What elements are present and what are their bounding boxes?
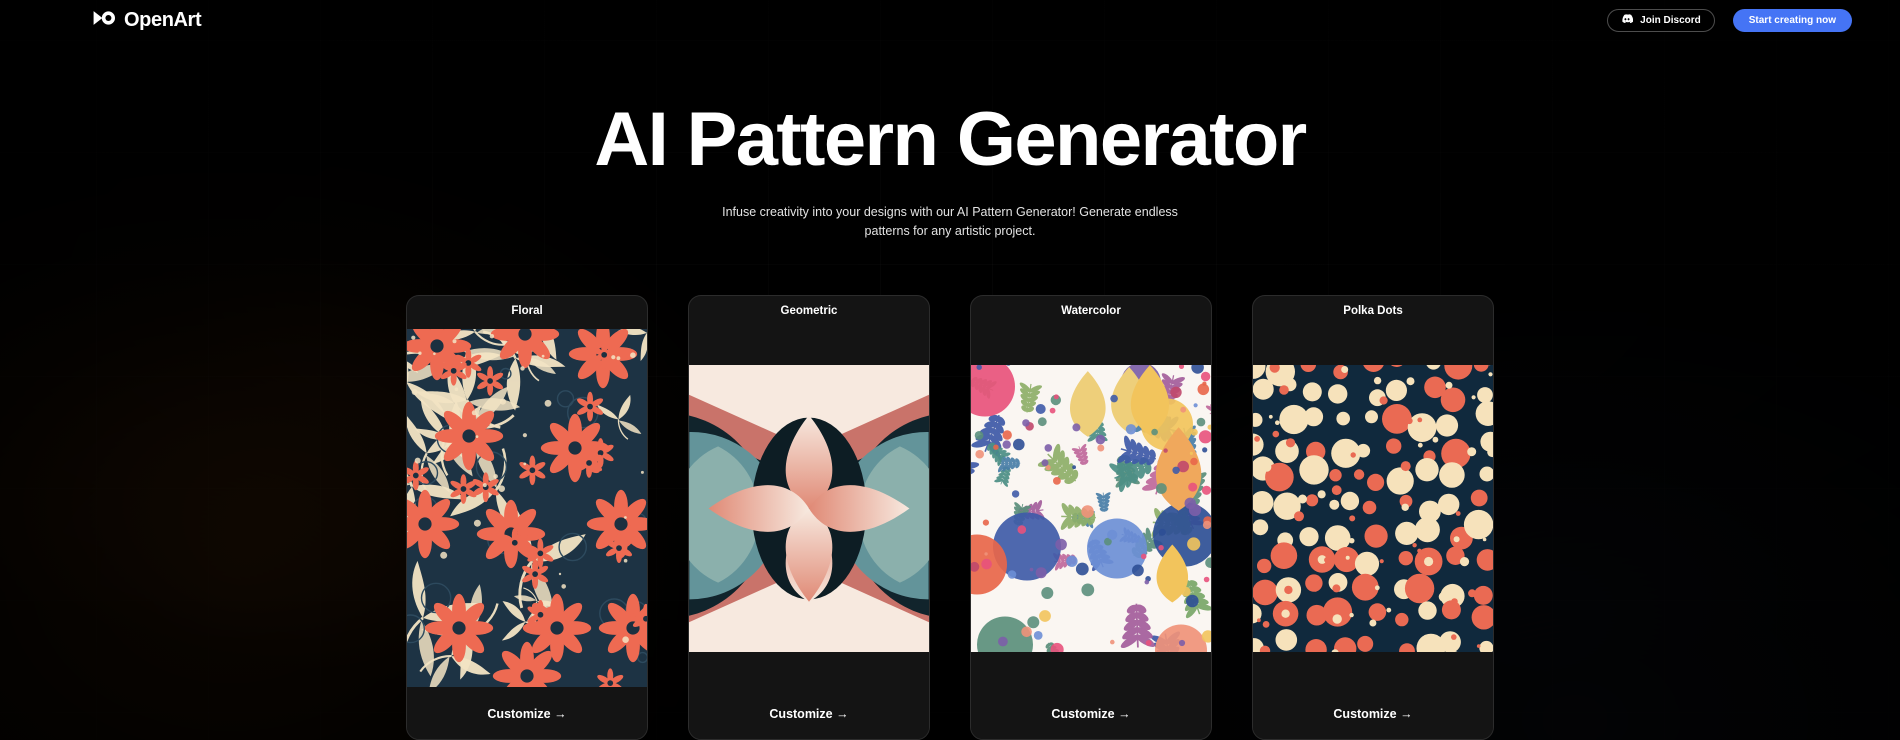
customize-button[interactable]: Customize → bbox=[407, 689, 647, 739]
pattern-card-title: Geometric bbox=[689, 296, 929, 326]
pattern-preview-image bbox=[971, 365, 1211, 652]
openart-logo-text: OpenArt bbox=[124, 10, 201, 30]
discord-icon bbox=[1621, 14, 1633, 26]
pattern-card-polkadots[interactable]: Polka DotsCustomize → bbox=[1252, 295, 1494, 740]
openart-logo[interactable]: OpenArt bbox=[92, 10, 201, 31]
page-title: AI Pattern Generator bbox=[0, 100, 1900, 181]
customize-button[interactable]: Customize → bbox=[1253, 689, 1493, 739]
openart-logo-icon bbox=[92, 10, 117, 31]
pattern-card-floral[interactable]: FloralCustomize → bbox=[406, 295, 648, 740]
start-creating-now-button[interactable]: Start creating now bbox=[1733, 9, 1852, 32]
join-discord-label: Join Discord bbox=[1640, 15, 1701, 26]
pattern-preview-image bbox=[1253, 365, 1493, 652]
customize-button-label: Customize → bbox=[1333, 707, 1412, 721]
pattern-card-title: Polka Dots bbox=[1253, 296, 1493, 326]
topbar-actions: Join Discord Start creating now bbox=[1607, 9, 1852, 32]
customize-button-label: Customize → bbox=[1051, 707, 1130, 721]
pattern-card-geometric[interactable]: GeometricCustomize → bbox=[688, 295, 930, 740]
pattern-card-title: Watercolor bbox=[971, 296, 1211, 326]
customize-button-label: Customize → bbox=[487, 707, 566, 721]
customize-button[interactable]: Customize → bbox=[689, 689, 929, 739]
page-root: OpenArt Join Discord Start creating now … bbox=[0, 0, 1900, 740]
join-discord-button[interactable]: Join Discord bbox=[1607, 9, 1715, 32]
start-creating-now-label: Start creating now bbox=[1749, 15, 1836, 26]
hero-section: AI Pattern Generator Infuse creativity i… bbox=[0, 100, 1900, 241]
customize-button-label: Customize → bbox=[769, 707, 848, 721]
page-subtitle: Infuse creativity into your designs with… bbox=[700, 203, 1200, 242]
pattern-card-watercolor[interactable]: WatercolorCustomize → bbox=[970, 295, 1212, 740]
pattern-card-title: Floral bbox=[407, 296, 647, 326]
customize-button[interactable]: Customize → bbox=[971, 689, 1211, 739]
pattern-card-list: FloralCustomize →GeometricCustomize →Wat… bbox=[0, 295, 1900, 740]
top-navigation-bar: OpenArt Join Discord Start creating now bbox=[0, 0, 1900, 40]
pattern-preview-image bbox=[407, 329, 647, 687]
pattern-preview-image bbox=[689, 365, 929, 652]
